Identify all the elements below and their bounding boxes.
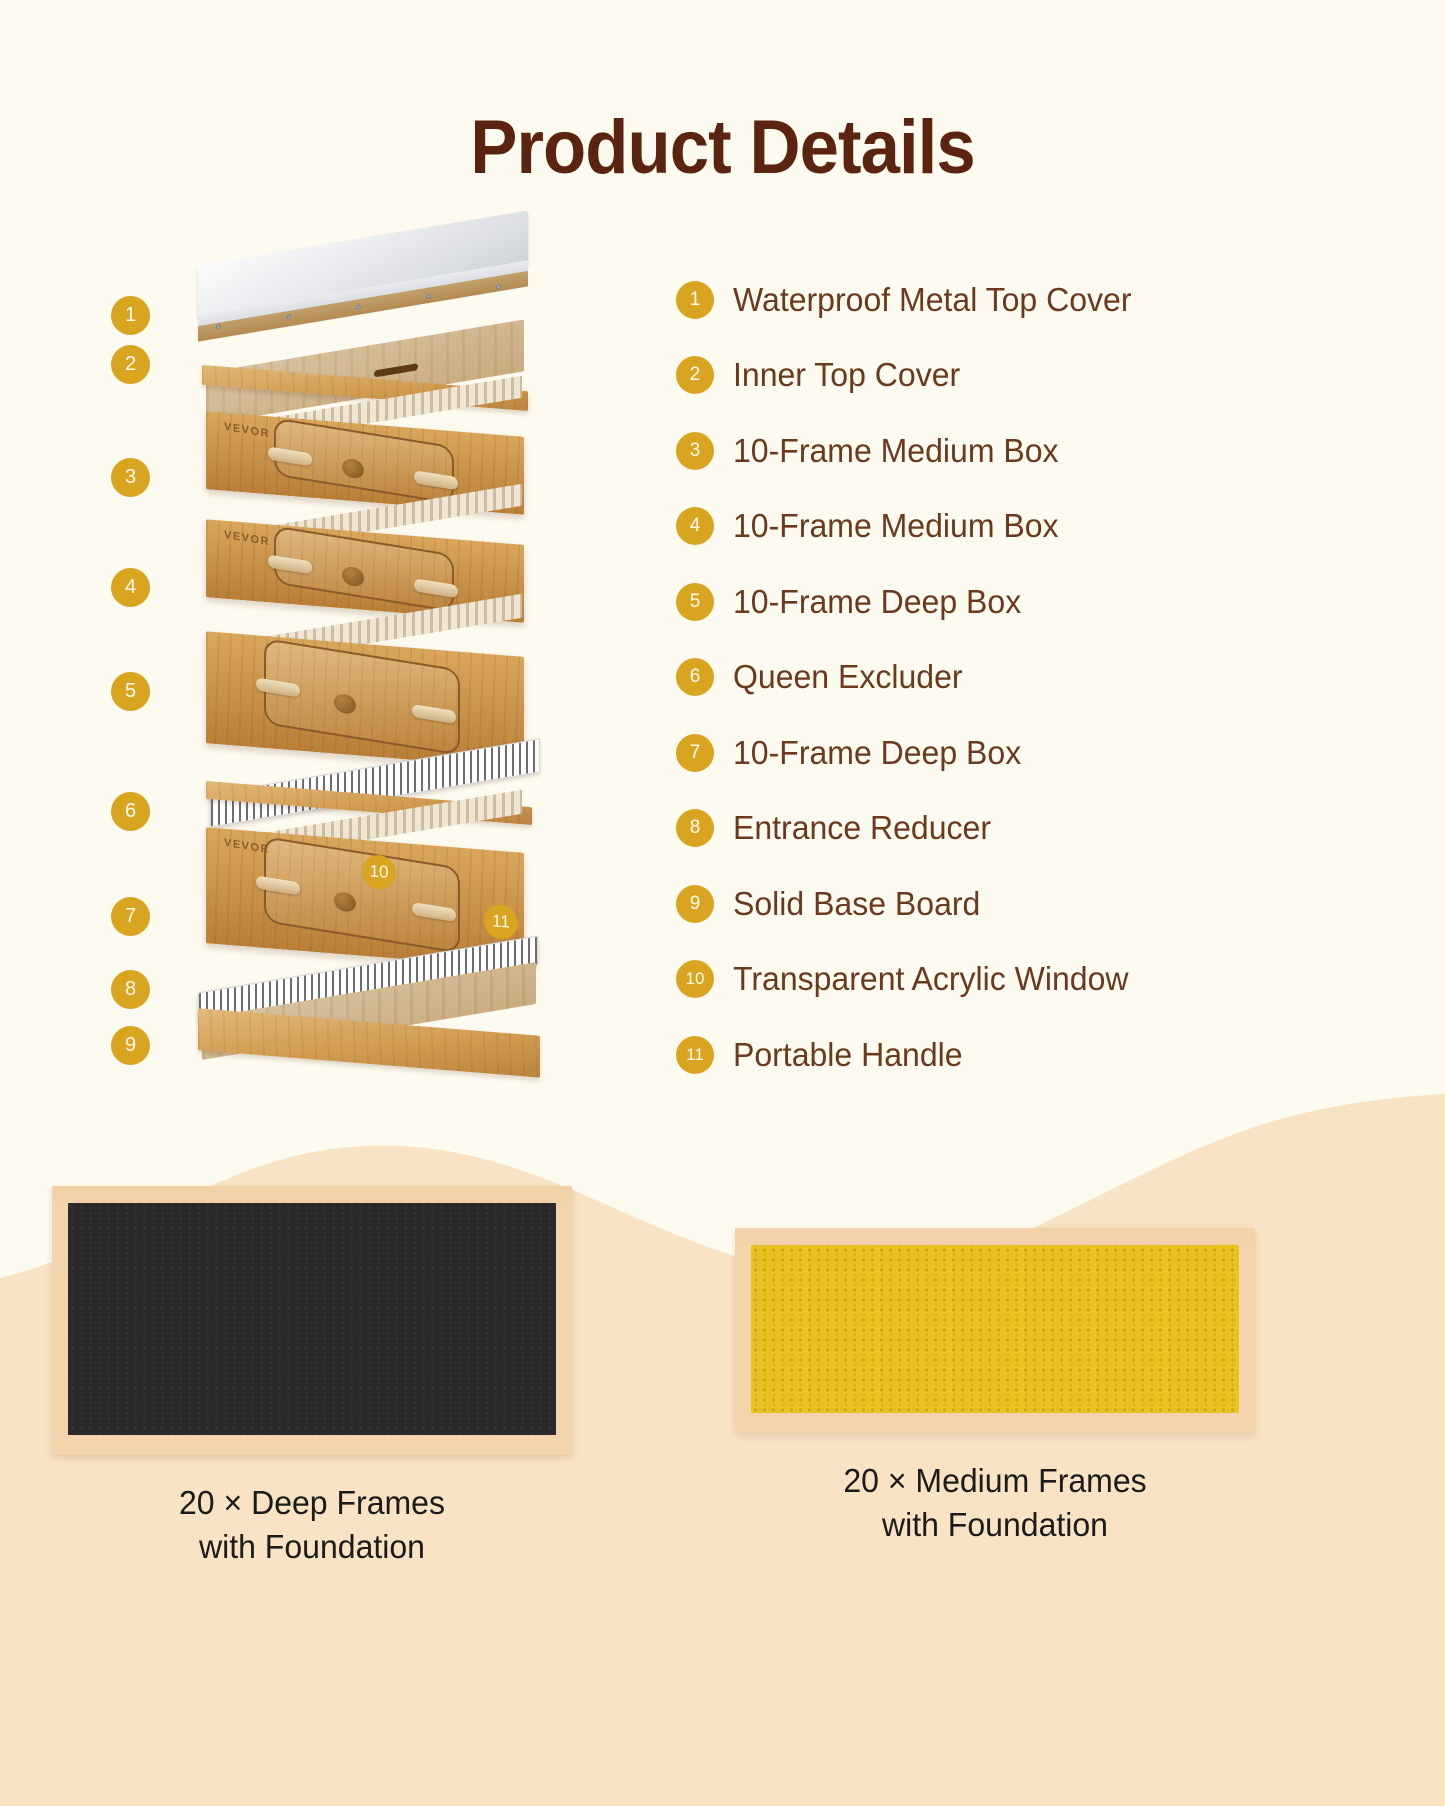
deep-frame-foundation: [68, 1203, 556, 1435]
legend-item-2: 2 Inner Top Cover: [676, 338, 1236, 414]
legend-list: 1 Waterproof Metal Top Cover 2 Inner Top…: [676, 262, 1236, 1093]
callout-badge-2: 2: [111, 345, 150, 384]
page-title: Product Details: [51, 104, 1395, 191]
callout-badge-7: 7: [111, 897, 150, 936]
callout-badge-6: 6: [111, 792, 150, 831]
legend-label-11: Portable Handle: [733, 1036, 963, 1074]
screw-icon: [286, 314, 291, 320]
screw-icon: [496, 284, 501, 290]
legend-label-10: Transparent Acrylic Window: [733, 960, 1129, 998]
medium-frame-card: 20 × Medium Frames with Foundation: [735, 1228, 1255, 1547]
medium-frame-caption: 20 × Medium Frames with Foundation: [743, 1459, 1247, 1547]
callout-badge-8: 8: [111, 970, 150, 1009]
legend-label-7: 10-Frame Deep Box: [733, 734, 1021, 772]
legend-badge-1: 1: [676, 281, 714, 319]
deep-frame-top-bar: [52, 1186, 572, 1203]
deep-frame-caption-line1: 20 × Deep Frames: [60, 1481, 564, 1525]
legend-badge-3: 3: [676, 432, 714, 470]
legend-label-4: 10-Frame Medium Box: [733, 507, 1059, 545]
deep-frame-body: [52, 1186, 572, 1455]
brand-mark: VEVOR: [224, 421, 270, 440]
deep-frame-card: 20 × Deep Frames with Foundation: [52, 1186, 572, 1569]
medium-frame-caption-line2: with Foundation: [743, 1503, 1247, 1547]
legend-item-9: 9 Solid Base Board: [676, 866, 1236, 942]
legend-badge-10: 10: [676, 960, 714, 998]
callout-badge-1: 1: [111, 296, 150, 335]
screw-icon: [216, 324, 221, 330]
product-details-page: Product Details VEVOR: [0, 0, 1445, 1806]
legend-label-1: Waterproof Metal Top Cover: [733, 281, 1132, 319]
callout-badge-5: 5: [111, 672, 150, 711]
deep-frame-caption-line2: with Foundation: [60, 1525, 564, 1569]
legend-label-8: Entrance Reducer: [733, 809, 991, 847]
legend-item-6: 6 Queen Excluder: [676, 640, 1236, 716]
legend-badge-9: 9: [676, 885, 714, 923]
legend-item-1: 1 Waterproof Metal Top Cover: [676, 262, 1236, 338]
brand-mark: VEVOR: [224, 529, 270, 548]
legend-badge-8: 8: [676, 809, 714, 847]
legend-badge-11: 11: [676, 1036, 714, 1074]
legend-item-5: 5 10-Frame Deep Box: [676, 564, 1236, 640]
hive-exploded-illustration: VEVOR VEVOR VEVOR: [150, 238, 620, 1100]
medium-frame-foundation: [751, 1245, 1239, 1413]
legend-badge-4: 4: [676, 507, 714, 545]
callout-badge-4: 4: [111, 568, 150, 607]
legend-label-5: 10-Frame Deep Box: [733, 583, 1021, 621]
transparent-acrylic-window: [264, 836, 460, 954]
legend-item-11: 11 Portable Handle: [676, 1017, 1236, 1093]
inner-cover-vent-hole: [374, 363, 418, 377]
legend-badge-5: 5: [676, 583, 714, 621]
deep-frame-caption: 20 × Deep Frames with Foundation: [60, 1481, 564, 1569]
medium-frame-body: [735, 1228, 1255, 1433]
legend-item-8: 8 Entrance Reducer: [676, 791, 1236, 867]
screw-icon: [426, 294, 431, 300]
medium-frame-top-bar: [735, 1228, 1255, 1245]
screw-icon: [356, 304, 361, 310]
legend-item-3: 3 10-Frame Medium Box: [676, 413, 1236, 489]
callout-badge-11: 11: [484, 904, 518, 941]
legend-label-2: Inner Top Cover: [733, 356, 960, 394]
legend-label-9: Solid Base Board: [733, 885, 980, 923]
transparent-acrylic-window: [264, 638, 460, 756]
legend-label-6: Queen Excluder: [733, 658, 963, 696]
callout-badge-9: 9: [111, 1026, 150, 1065]
medium-frame-caption-line1: 20 × Medium Frames: [743, 1459, 1247, 1503]
legend-label-3: 10-Frame Medium Box: [733, 432, 1059, 470]
legend-badge-2: 2: [676, 356, 714, 394]
legend-item-10: 10 Transparent Acrylic Window: [676, 942, 1236, 1018]
legend-item-4: 4 10-Frame Medium Box: [676, 489, 1236, 565]
legend-badge-6: 6: [676, 658, 714, 696]
legend-badge-7: 7: [676, 734, 714, 772]
legend-item-7: 7 10-Frame Deep Box: [676, 715, 1236, 791]
callout-badge-3: 3: [111, 458, 150, 497]
